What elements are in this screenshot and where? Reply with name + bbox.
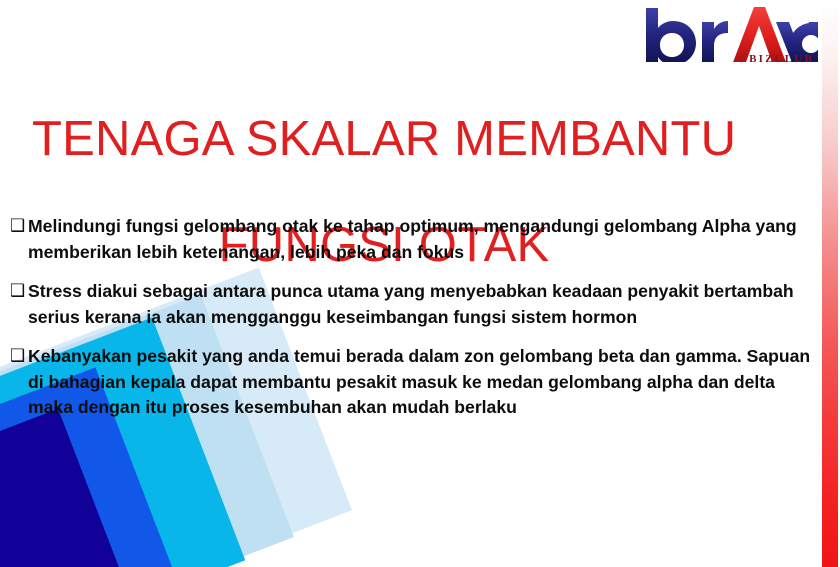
slide-body-bullets: ❑ Melindungi fungsi gelombang otak ke ta… [10, 214, 822, 435]
bullet-text: Kebanyakan pesakit yang anda temui berad… [28, 344, 822, 421]
right-edge-red-gradient-bar [822, 0, 838, 567]
bullet-item: ❑ Stress diakui sebagai antara punca uta… [10, 279, 822, 330]
bullet-text: Melindungi fungsi gelombang otak ke taha… [28, 214, 822, 265]
slide-canvas: BIZCLUB TENAGA SKALAR MEMBANTU FUNGSI OT… [0, 0, 840, 567]
hollow-square-bullet-icon: ❑ [10, 344, 28, 370]
hollow-square-bullet-icon: ❑ [10, 279, 28, 305]
slide-title-line-1: TENAGA SKALAR MEMBANTU [32, 113, 786, 166]
hollow-square-bullet-icon: ❑ [10, 214, 28, 240]
bullet-item: ❑ Kebanyakan pesakit yang anda temui ber… [10, 344, 822, 421]
bullet-item: ❑ Melindungi fungsi gelombang otak ke ta… [10, 214, 822, 265]
bullet-text: Stress diakui sebagai antara punca utama… [28, 279, 822, 330]
